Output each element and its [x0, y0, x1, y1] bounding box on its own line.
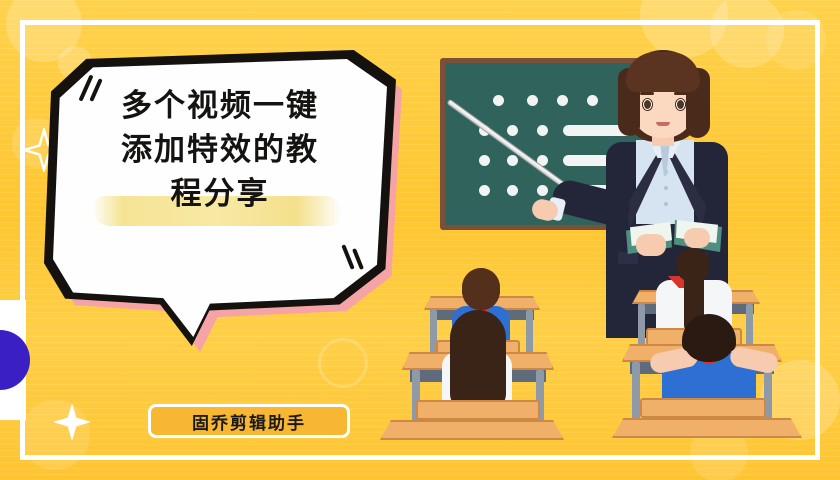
- headline-line-3: 程分享: [44, 172, 396, 216]
- headline-line-1: 多个视频一键: [44, 84, 396, 128]
- headline-text: 多个视频一键 添加特效的教 程分享: [44, 84, 396, 216]
- poster-canvas: 多个视频一键 添加特效的教 程分享 固乔剪辑助手: [0, 0, 840, 480]
- headline-line-2: 添加特效的教: [44, 128, 396, 172]
- brand-banner[interactable]: 固乔剪辑助手: [148, 404, 350, 438]
- brand-banner-label: 固乔剪辑助手: [192, 409, 306, 434]
